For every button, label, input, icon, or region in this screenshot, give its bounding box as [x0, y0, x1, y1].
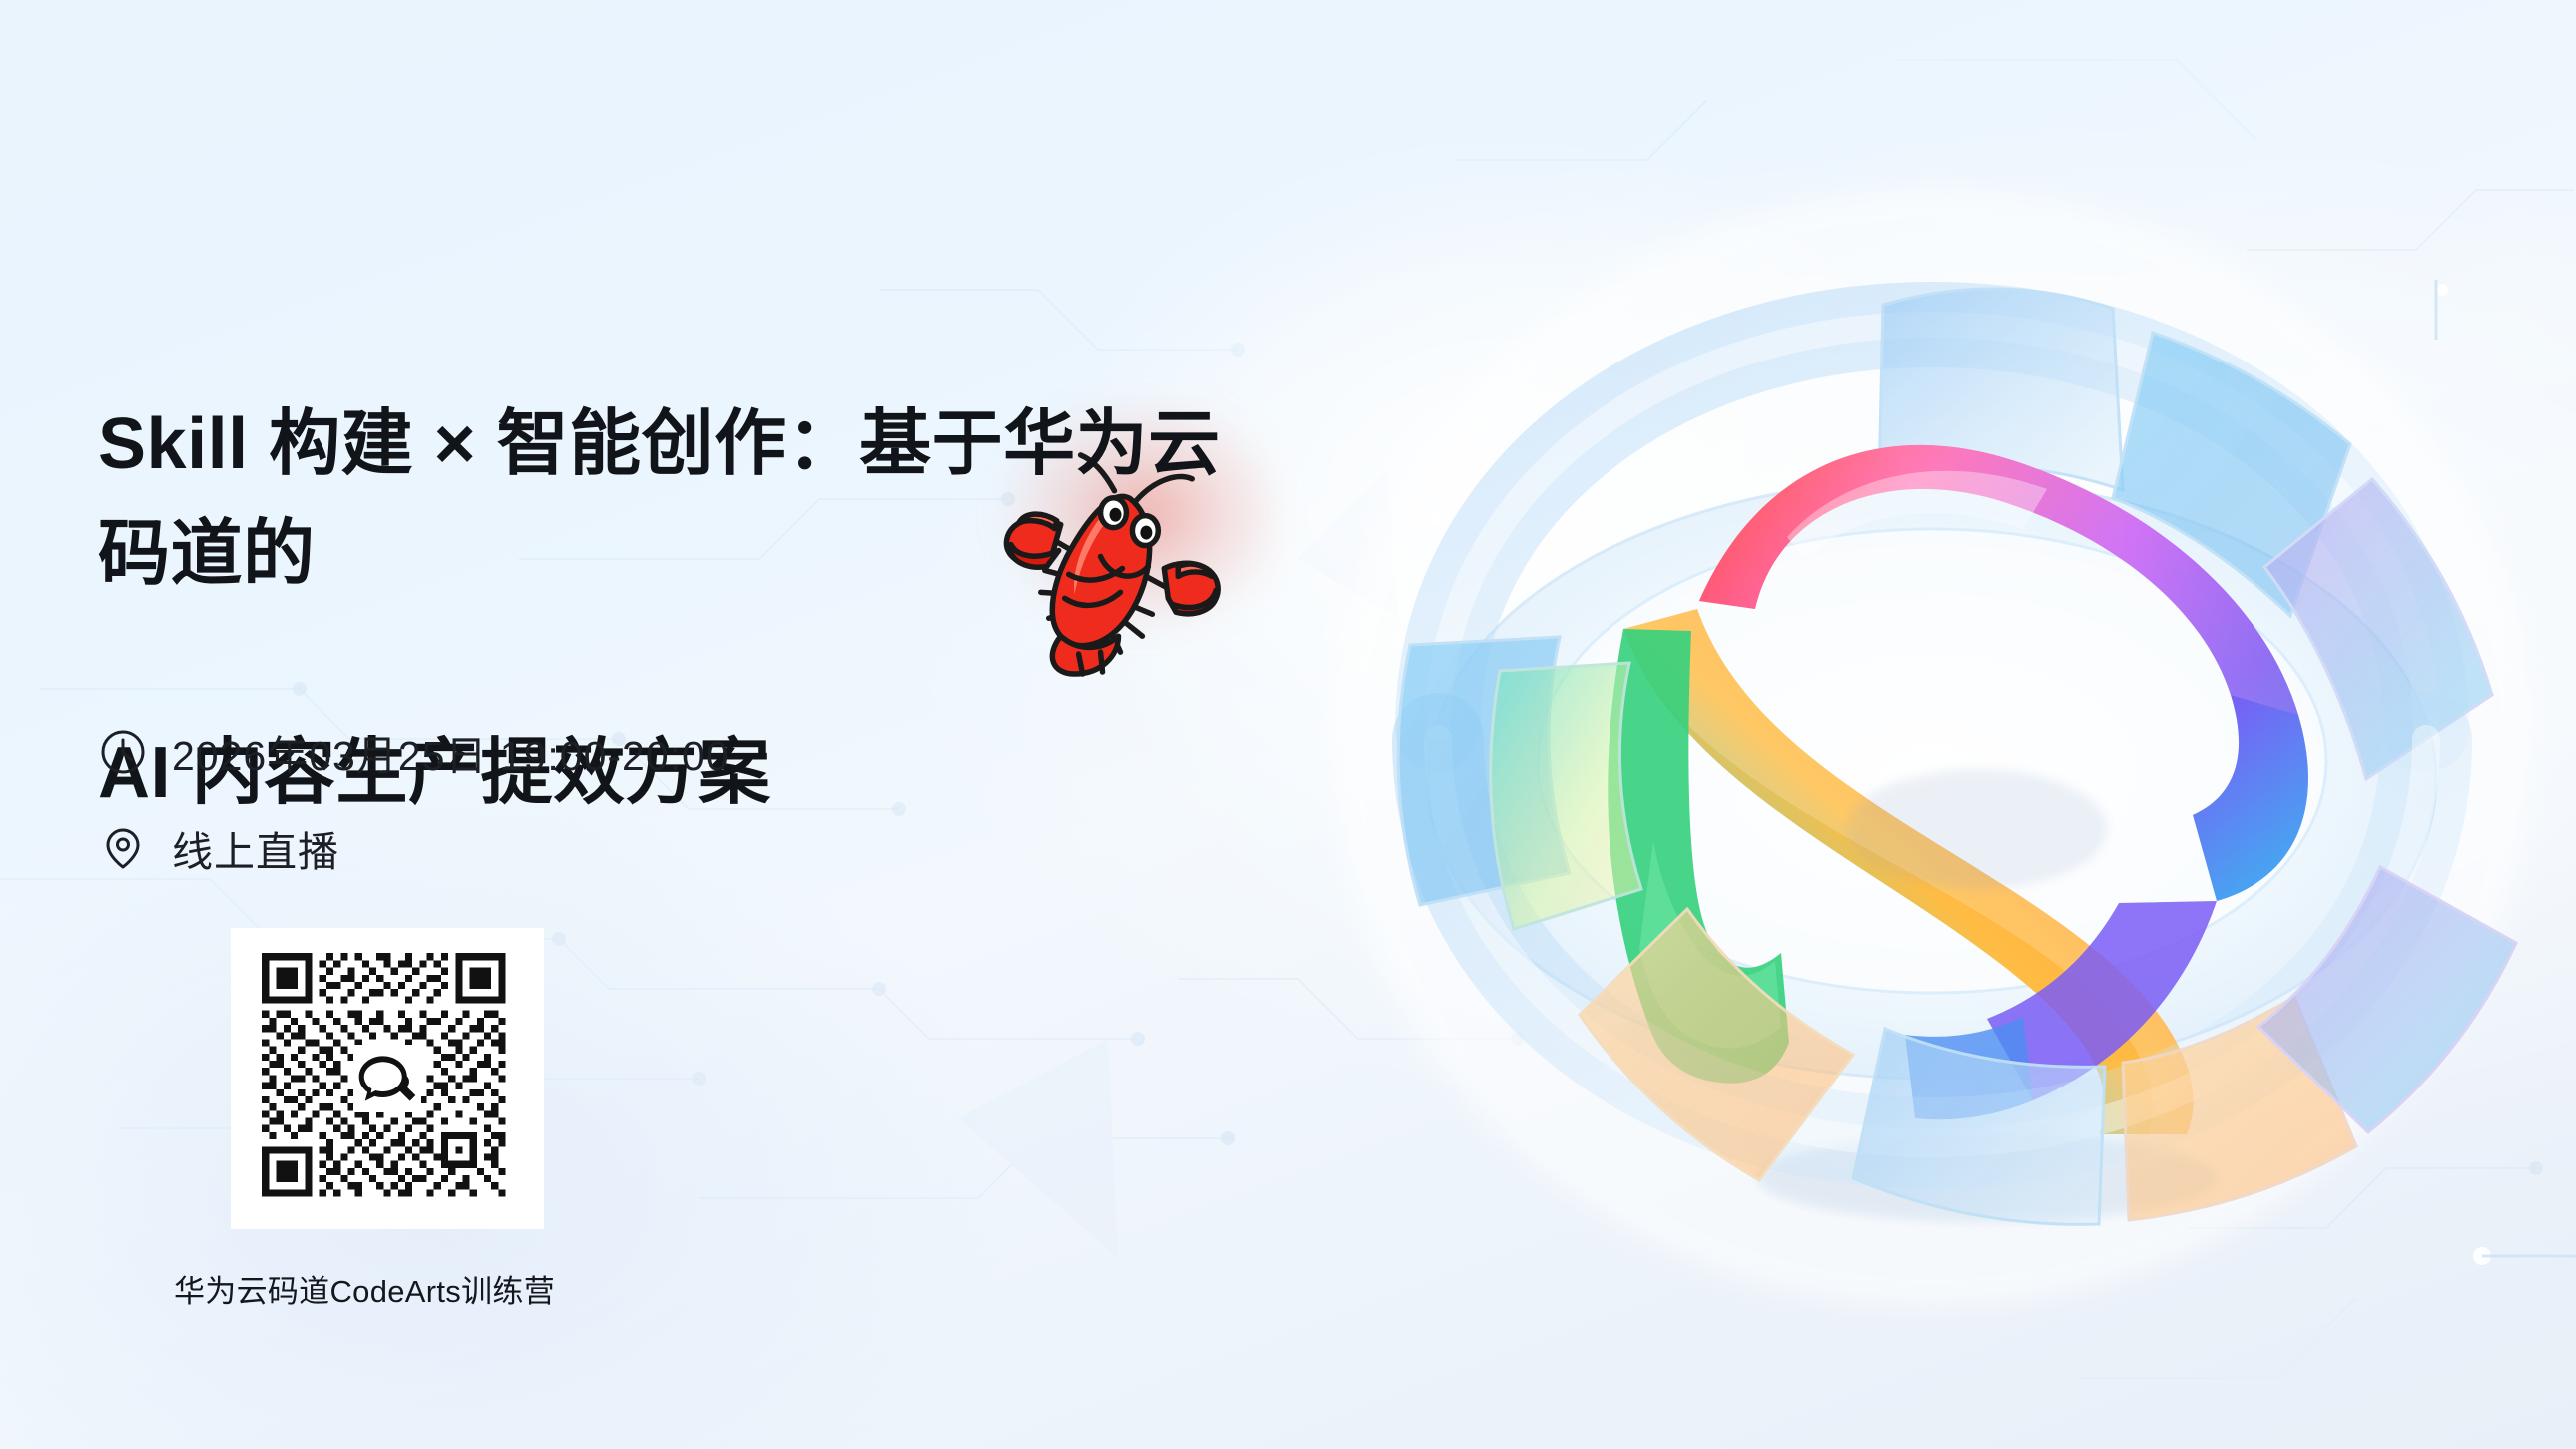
codearts-3d-ribbon-artwork [1288, 90, 2576, 1378]
clock-icon [100, 729, 146, 775]
qr-code-caption: 华为云码道CodeArts训练营 [150, 1266, 579, 1311]
poster-content: Skill 构建 × 智能创作：基于华为云码道的 AI 内容生产提效方案 202… [0, 0, 1298, 1449]
event-datetime-row: 2026年03月25日 19:00-20:00 [100, 715, 730, 789]
wechat-channel-icon [353, 1045, 421, 1112]
event-datetime-text: 2026年03月25日 19:00-20:00 [172, 722, 730, 782]
event-meta: 2026年03月25日 19:00-20:00 线上直播 [100, 715, 730, 885]
qr-code-card[interactable] [231, 928, 544, 1229]
qr-code-image [255, 946, 520, 1211]
event-location-row: 线上直播 [100, 811, 730, 885]
page-title-line-1: Skill 构建 × 智能创作：基于华为云码道的 [98, 390, 1256, 609]
location-pin-icon [100, 825, 146, 871]
poster-canvas: Skill 构建 × 智能创作：基于华为云码道的 AI 内容生产提效方案 202… [0, 0, 2576, 1449]
event-location-text: 线上直播 [172, 818, 339, 878]
